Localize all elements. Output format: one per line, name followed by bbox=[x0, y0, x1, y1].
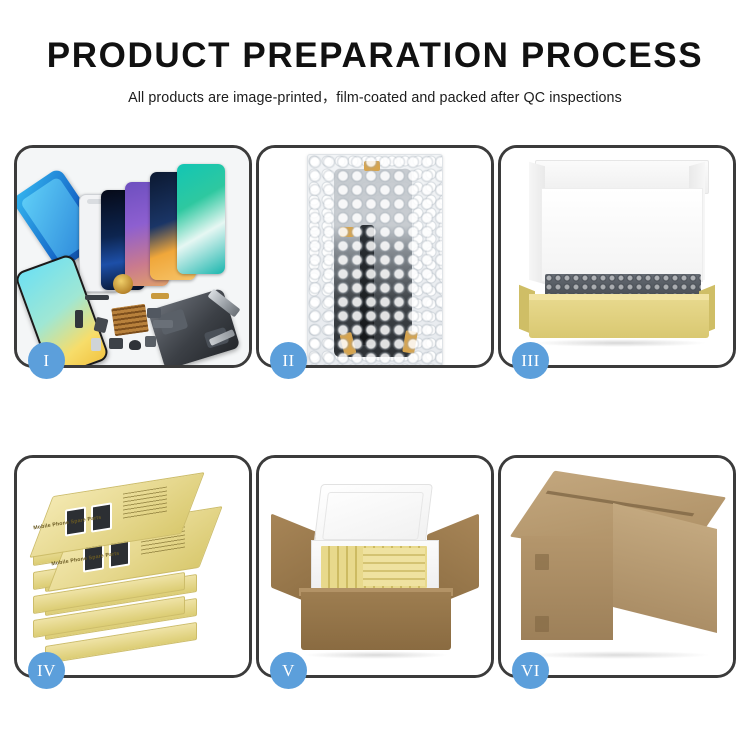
carton-shadow bbox=[525, 651, 711, 659]
spare-part-icon bbox=[145, 336, 156, 347]
process-step-4[interactable]: Mobile Phone Spare Parts Mobile Phone Sp… bbox=[14, 455, 252, 678]
coil-part-icon bbox=[113, 274, 133, 294]
chip-array-icon bbox=[111, 304, 149, 336]
box-inner-panel-icon bbox=[541, 188, 703, 282]
step-2-image bbox=[259, 148, 491, 365]
process-step-1[interactable]: I bbox=[14, 145, 252, 368]
yellow-boxes-stack-icon bbox=[363, 548, 425, 586]
carton-front-icon bbox=[301, 592, 451, 650]
step-5-image bbox=[259, 458, 491, 675]
bubble-bag-icon bbox=[307, 154, 443, 365]
box-shadow bbox=[531, 339, 707, 347]
spare-part-icon bbox=[75, 310, 83, 328]
process-step-5[interactable]: V bbox=[256, 455, 494, 678]
process-step-2[interactable]: II bbox=[256, 145, 494, 368]
step-badge-5: V bbox=[270, 652, 307, 689]
spare-part-icon bbox=[147, 308, 161, 318]
step-badge-4: IV bbox=[28, 652, 65, 689]
bubble-texture-overlay bbox=[308, 155, 442, 365]
carton-shadow bbox=[303, 651, 449, 659]
process-step-3[interactable]: III bbox=[498, 145, 736, 368]
box-front-icon bbox=[529, 300, 709, 338]
page-title: PRODUCT PREPARATION PROCESS bbox=[0, 38, 750, 75]
spare-part-icon bbox=[153, 320, 173, 328]
spare-part-icon bbox=[91, 338, 101, 351]
foam-lid-icon bbox=[313, 484, 433, 548]
step-6-image bbox=[501, 458, 733, 675]
step-badge-1: I bbox=[28, 342, 65, 379]
page-header: PRODUCT PREPARATION PROCESS All products… bbox=[0, 0, 750, 107]
spare-part-icon bbox=[109, 338, 123, 349]
step-3-image bbox=[501, 148, 733, 365]
page-subtitle: All products are image-printed，film-coat… bbox=[0, 86, 750, 107]
phone-teal-icon bbox=[177, 164, 225, 274]
spare-part-icon bbox=[93, 317, 108, 333]
spare-part-icon bbox=[85, 295, 109, 300]
carton-tape-icon bbox=[535, 616, 549, 632]
carton-tape-icon bbox=[535, 554, 549, 570]
step-4-image: Mobile Phone Spare Parts Mobile Phone Sp… bbox=[17, 458, 249, 675]
spare-part-icon bbox=[151, 293, 169, 299]
step-1-image bbox=[17, 148, 249, 365]
step-badge-2: II bbox=[270, 342, 307, 379]
process-step-6[interactable]: VI bbox=[498, 455, 736, 678]
step-badge-3: III bbox=[512, 342, 549, 379]
spare-part-icon bbox=[129, 340, 141, 350]
process-step-grid: I II bbox=[14, 145, 736, 678]
step-badge-6: VI bbox=[512, 652, 549, 689]
